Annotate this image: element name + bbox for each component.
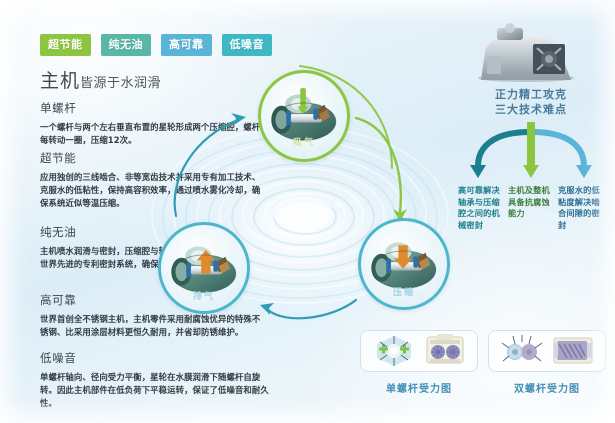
- challenge-column-2: 主机及整机具备抗腐蚀能力: [508, 185, 554, 233]
- arrow-compression-to-exhaust: [260, 300, 356, 318]
- three-challenges-arrow-diagram: [452, 122, 610, 184]
- challenge-arrow-1: [470, 132, 530, 178]
- page-title-main: 主机: [40, 70, 80, 92]
- challenge-column-3: 克服水的低粘度解决啮合间隙的密封: [558, 185, 604, 233]
- force-diagram-caption-single: 单螺杆受力图: [360, 380, 478, 395]
- force-diagram-box-double: [488, 330, 606, 372]
- cycle-stage-compression: 压缩: [358, 218, 450, 310]
- section-body: 单螺杆轴向、径向受力平衡，星轮在水膜润滑下随螺杆自旋转。因此主机部件在低负荷下平…: [40, 371, 275, 410]
- page-title: 主机皆源于水润滑: [40, 66, 161, 93]
- cycle-stage-label: 排气: [161, 289, 247, 302]
- single-screw-force-icon: [371, 334, 417, 368]
- double-screw-rotor-icon: [551, 334, 595, 368]
- feature-tag-2: 高可靠: [161, 34, 212, 56]
- section-title: 单螺杆: [40, 100, 265, 116]
- section-body: 应用独创的三线啮合、非等宽齿技术并采用专有加工技术、克服水的低粘性，保持高容积效…: [40, 171, 265, 210]
- right-panel-title: 正力精工攻克 三大技术难点: [452, 88, 610, 118]
- feature-tag-1: 纯无油: [101, 34, 152, 56]
- section-body: 世界首创全不锈钢主机，主机零件采用耐腐蚀优异的特殊不锈钢、比采用涂层材料更恒久耐…: [40, 313, 265, 339]
- section-chaojieneng: 超节能 应用独创的三线啮合、非等宽齿技术并采用专有加工技术、克服水的低粘性，保持…: [40, 150, 265, 210]
- feature-tag-0: 超节能: [40, 34, 91, 56]
- section-danluogan: 单螺杆 一个螺杆与两个左右垂直布置的星轮形成两个压缩腔，螺杆每转动一圈，压缩12…: [40, 100, 265, 147]
- right-panel-title-line2: 三大技术难点: [452, 103, 610, 118]
- right-panel-title-line1: 正力精工攻克: [452, 88, 610, 103]
- single-screw-rotor-icon: [423, 334, 467, 368]
- cycle-stage-label: 压缩: [361, 285, 447, 298]
- feature-tag-list: 超节能 纯无油 高可靠 低噪音: [40, 34, 272, 56]
- force-diagram-box-single: [360, 330, 478, 372]
- section-title: 超节能: [40, 150, 265, 166]
- cycle-stage-intake: 吸气: [258, 70, 350, 162]
- cycle-stage-exhaust: 排气: [158, 222, 250, 314]
- force-diagram-caption-double: 双螺杆受力图: [488, 380, 606, 395]
- double-screw-force-icon: [499, 334, 545, 368]
- cycle-stage-label: 吸气: [261, 135, 347, 148]
- feature-tag-3: 低噪音: [222, 34, 273, 56]
- infographic-page: 超节能 纯无油 高可靠 低噪音 主机皆源于水润滑 单螺杆 一个螺杆与两个左右垂直…: [0, 0, 615, 423]
- section-dizaoyin: 低噪音 单螺杆轴向、径向受力平衡，星轮在水膜润滑下随螺杆自旋转。因此主机部件在低…: [40, 350, 275, 410]
- right-panel: 正力精工攻克 三大技术难点: [452, 22, 610, 232]
- compressor-unit-photo-icon: [471, 22, 591, 84]
- challenge-column-1: 高可靠解决轴承与压缩腔之间的机械密封: [458, 185, 504, 233]
- section-title: 低噪音: [40, 350, 275, 366]
- section-body: 一个螺杆与两个左右垂直布置的星轮形成两个压缩腔，螺杆每转动一圈，压缩12次。: [40, 121, 265, 147]
- arrow-intake-to-compression: [356, 118, 407, 222]
- challenge-arrow-3: [532, 132, 592, 178]
- three-challenges-columns: 高可靠解决轴承与压缩腔之间的机械密封 主机及整机具备抗腐蚀能力 克服水的低粘度解…: [452, 185, 610, 233]
- page-title-sub: 皆源于水润滑: [80, 76, 161, 91]
